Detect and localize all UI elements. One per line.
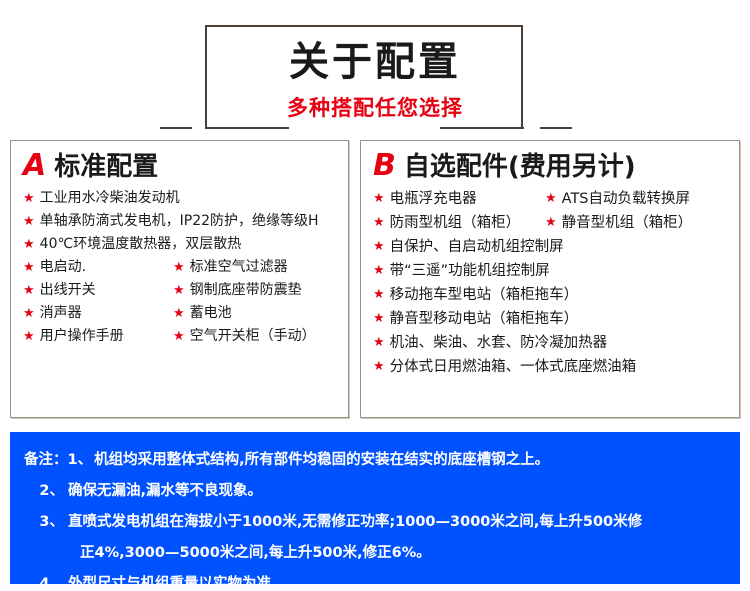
star-icon: ★: [23, 256, 35, 279]
panel-standard-config: A 标准配置 ★ 工业用水冷柴油发动机 ★ 单轴承防滴式发电机，IP22防护，绝…: [10, 140, 349, 418]
panel-a-item-list: ★ 工业用水冷柴油发动机 ★ 单轴承防滴式发电机，IP22防护，绝缘等级H ★ …: [23, 187, 336, 348]
star-icon: ★: [373, 187, 385, 210]
list-item-label: 单轴承防滴式发电机，IP22防护，绝缘等级H: [40, 210, 319, 233]
list-item-label: 分体式日用燃油箱、一体式底座燃油箱: [390, 355, 637, 379]
list-row-pair: ★ 电瓶浮充电器 ★ ATS自动负载转换屏: [373, 187, 727, 211]
list-item: ★ 静音型机组（箱柜）: [545, 211, 692, 235]
list-item: ★ 消声器: [23, 302, 173, 325]
remark-line: 4、 外型尺寸与机组重量以实物为准: [24, 569, 726, 591]
list-item: ★ 机油、柴油、水套、防冷凝加热器: [373, 331, 727, 355]
star-icon: ★: [23, 302, 35, 325]
list-item: ★ 标准空气过滤器: [173, 256, 288, 279]
list-item: ★ 分体式日用燃油箱、一体式底座燃油箱: [373, 355, 727, 379]
star-icon: ★: [23, 210, 35, 233]
star-icon: ★: [23, 233, 35, 256]
list-item-label: 蓄电池: [190, 302, 232, 325]
remark-text: 机组均采用整体式结构,所有部件均稳固的安装在结实的底座槽钢之上。: [94, 445, 549, 476]
list-row-pair: ★ 出线开关 ★ 钢制底座带防震垫: [23, 279, 336, 302]
list-item-label: 空气开关柜（手动）: [190, 325, 316, 348]
list-item-label: ATS自动负载转换屏: [562, 187, 690, 211]
list-item: ★ 带“三遥”功能机组控制屏: [373, 259, 727, 283]
product-spec-page: 关于配置 多种搭配任您选择 A 标准配置 ★ 工业用水冷柴油发动机 ★ 单轴承防…: [0, 0, 750, 591]
list-row-pair: ★ 用户操作手册 ★ 空气开关柜（手动）: [23, 325, 336, 348]
list-item-label: 移动拖车型电站（箱柜拖车）: [390, 283, 579, 307]
panel-a-title: 标准配置: [54, 154, 158, 180]
star-icon: ★: [545, 187, 557, 210]
list-item: ★ 单轴承防滴式发电机，IP22防护，绝缘等级H: [23, 210, 336, 233]
list-item: ★ 用户操作手册: [23, 325, 173, 348]
title-frame-bottom-right: [440, 127, 524, 129]
panel-a-header: A 标准配置: [23, 151, 336, 181]
remarks-label: 备注：: [24, 445, 68, 476]
remark-number: 2、: [24, 476, 68, 507]
star-icon: ★: [173, 302, 185, 325]
remark-text: 正4%,3000—5000米之间,每上升500米,修正6%。: [80, 538, 431, 569]
remark-number: 1、: [68, 445, 95, 476]
list-item-label: 机油、柴油、水套、防冷凝加热器: [390, 331, 608, 355]
list-item: ★ 蓄电池: [173, 302, 232, 325]
remark-line: 备注： 1、 机组均采用整体式结构,所有部件均稳固的安装在结实的底座槽钢之上。: [24, 445, 726, 476]
list-item-label: 工业用水冷柴油发动机: [40, 187, 180, 210]
list-item: ★ ATS自动负载转换屏: [545, 187, 690, 211]
star-icon: ★: [173, 279, 185, 302]
list-item-label: 带“三遥”功能机组控制屏: [390, 259, 550, 283]
list-item-label: 电瓶浮充电器: [390, 187, 477, 211]
list-item: ★ 电启动.: [23, 256, 173, 279]
star-icon: ★: [373, 355, 385, 378]
panel-b-title: 自选配件(费用另计): [404, 154, 636, 180]
star-icon: ★: [373, 235, 385, 258]
star-icon: ★: [23, 187, 35, 210]
list-item: ★ 40℃环境温度散热器，双层散热: [23, 233, 336, 256]
remark-text: 外型尺寸与机组重量以实物为准: [68, 569, 271, 591]
remark-line: 3、 直喷式发电机组在海拔小于1000米,无需修正功率;1000—3000米之间…: [24, 507, 726, 538]
list-item: ★ 电瓶浮充电器: [373, 187, 545, 211]
star-icon: ★: [23, 279, 35, 302]
list-item-label: 出线开关: [40, 279, 96, 302]
list-row-pair: ★ 电启动. ★ 标准空气过滤器: [23, 256, 336, 279]
list-row-pair: ★ 消声器 ★ 蓄电池: [23, 302, 336, 325]
list-item-label: 用户操作手册: [40, 325, 124, 348]
list-item-label: 防雨型机组（箱柜）: [390, 211, 521, 235]
star-icon: ★: [373, 307, 385, 330]
star-icon: ★: [373, 283, 385, 306]
list-item-label: 自保护、自启动机组控制屏: [390, 235, 564, 259]
star-icon: ★: [173, 256, 185, 279]
remark-text: 确保无漏油,漏水等不良现象。: [68, 476, 262, 507]
page-title: 关于配置: [0, 42, 750, 82]
star-icon: ★: [373, 331, 385, 354]
list-item-label: 钢制底座带防震垫: [190, 279, 302, 302]
title-block: 关于配置 多种搭配任您选择: [0, 20, 750, 130]
star-icon: ★: [373, 211, 385, 234]
panel-b-item-list: ★ 电瓶浮充电器 ★ ATS自动负载转换屏 ★ 防雨型机组（箱柜） ★: [373, 187, 727, 379]
star-icon: ★: [545, 211, 557, 234]
list-item: ★ 静音型移动电站（箱柜拖车）: [373, 307, 727, 331]
list-item: ★ 钢制底座带防震垫: [173, 279, 302, 302]
list-item: ★ 防雨型机组（箱柜）: [373, 211, 545, 235]
remark-number: 4、: [24, 569, 68, 591]
list-item-label: 40℃环境温度散热器，双层散热: [40, 233, 242, 256]
panel-a-letter: A: [23, 151, 46, 181]
remark-text: 直喷式发电机组在海拔小于1000米,无需修正功率;1000—3000米之间,每上…: [68, 507, 642, 538]
list-item: ★ 空气开关柜（手动）: [173, 325, 316, 348]
list-row-pair: ★ 防雨型机组（箱柜） ★ 静音型机组（箱柜）: [373, 211, 727, 235]
list-item-label: 静音型机组（箱柜）: [562, 211, 693, 235]
list-item-label: 标准空气过滤器: [190, 256, 288, 279]
list-item-label: 消声器: [40, 302, 82, 325]
list-item: ★ 自保护、自启动机组控制屏: [373, 235, 727, 259]
list-item: ★ 出线开关: [23, 279, 173, 302]
title-frame-bottom-left: [205, 127, 289, 129]
star-icon: ★: [373, 259, 385, 282]
list-item: ★ 工业用水冷柴油发动机: [23, 187, 336, 210]
remark-number: 3、: [24, 507, 68, 538]
title-tick-right-icon: [540, 127, 572, 129]
config-panels: A 标准配置 ★ 工业用水冷柴油发动机 ★ 单轴承防滴式发电机，IP22防护，绝…: [0, 140, 750, 420]
list-item-label: 电启动.: [40, 256, 86, 279]
title-tick-left-icon: [160, 127, 192, 129]
list-item-label: 静音型移动电站（箱柜拖车）: [390, 307, 579, 331]
panel-b-header: B 自选配件(费用另计): [373, 151, 727, 181]
panel-b-letter: B: [373, 151, 396, 181]
page-subtitle: 多种搭配任您选择: [0, 98, 750, 119]
remark-line: 2、 确保无漏油,漏水等不良现象。: [24, 476, 726, 507]
panel-optional-accessories: B 自选配件(费用另计) ★ 电瓶浮充电器 ★ ATS自动负载转换屏 ★: [360, 140, 740, 418]
remark-line-continuation: 正4%,3000—5000米之间,每上升500米,修正6%。: [24, 538, 726, 569]
list-item: ★ 移动拖车型电站（箱柜拖车）: [373, 283, 727, 307]
star-icon: ★: [23, 325, 35, 348]
remarks-panel: 备注： 1、 机组均采用整体式结构,所有部件均稳固的安装在结实的底座槽钢之上。 …: [10, 432, 740, 584]
star-icon: ★: [173, 325, 185, 348]
